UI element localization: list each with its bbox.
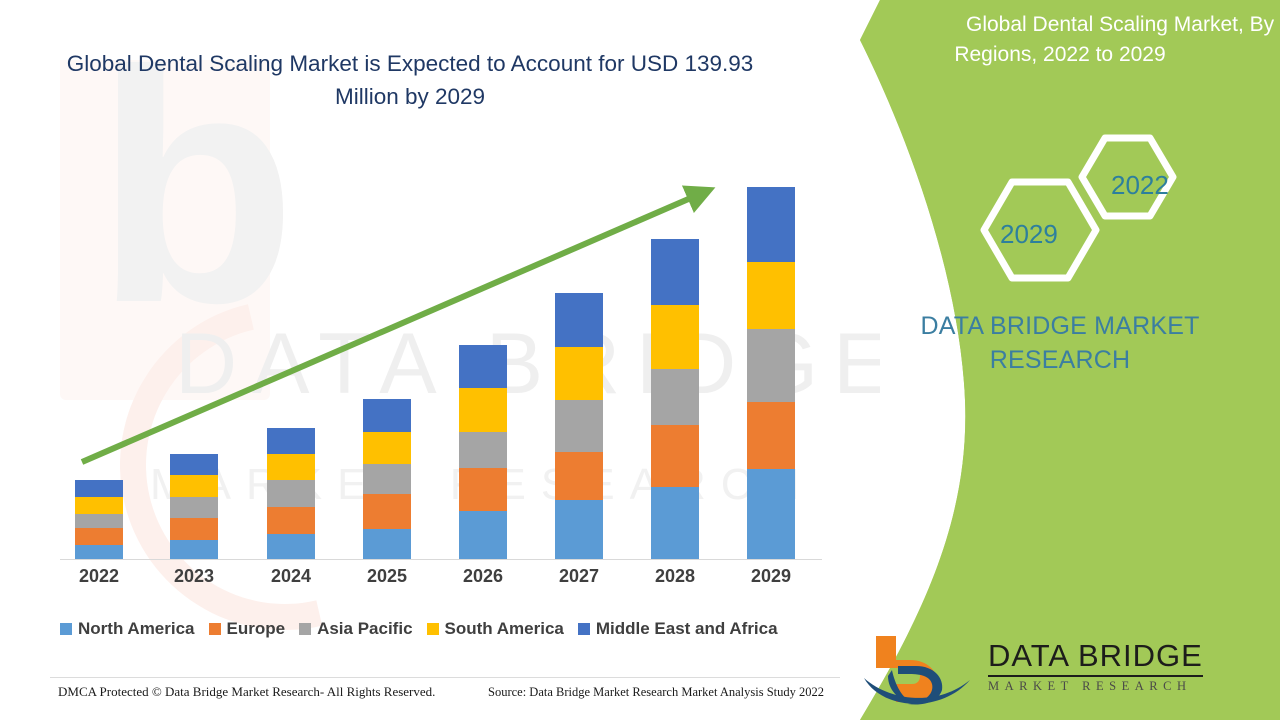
bar-segment-2028-south-america	[651, 305, 699, 369]
bar-segment-2023-europe	[170, 518, 218, 540]
bar-segment-2022-north-america	[75, 545, 123, 559]
footer-divider	[50, 677, 840, 678]
bar-segment-2029-middle-east-and-africa	[747, 187, 795, 262]
x-axis-label-2026: 2026	[438, 566, 528, 587]
x-axis-labels: 20222023202420252026202720282029	[60, 566, 822, 596]
hexagon-2022-label: 2022	[1111, 170, 1169, 201]
infographic-canvas: b DATA BRIDGE MARKET RESEARCH Global Den…	[0, 0, 1280, 720]
x-axis-label-2029: 2029	[726, 566, 816, 587]
bar-segment-2029-south-america	[747, 262, 795, 329]
bar-2028	[651, 239, 699, 559]
chart-title: Global Dental Scaling Market is Expected…	[60, 48, 760, 113]
chart-legend: North AmericaEuropeAsia PacificSouth Ame…	[60, 616, 830, 642]
bar-2026	[459, 345, 507, 560]
bar-segment-2029-asia-pacific	[747, 329, 795, 402]
bar-segment-2024-europe	[267, 507, 315, 534]
bar-segment-2022-asia-pacific	[75, 514, 123, 528]
bar-2024	[267, 428, 315, 559]
x-axis-label-2028: 2028	[630, 566, 720, 587]
brand-panel: Global Dental Scaling Market, By Regions…	[840, 0, 1280, 720]
hexagon-group	[840, 130, 1280, 300]
bar-segment-2024-north-america	[267, 534, 315, 559]
bar-segment-2026-north-america	[459, 511, 507, 559]
x-axis-label-2022: 2022	[54, 566, 144, 587]
x-axis-line	[60, 559, 822, 560]
legend-item-north-america[interactable]: North America	[60, 619, 195, 639]
bar-2027	[555, 293, 603, 559]
bar-segment-2024-south-america	[267, 454, 315, 480]
bar-segment-2026-asia-pacific	[459, 432, 507, 468]
hexagon-2029-label: 2029	[1000, 219, 1058, 250]
bar-2029	[747, 187, 795, 559]
bar-2023	[170, 454, 218, 559]
bar-segment-2025-asia-pacific	[363, 464, 411, 494]
legend-label: Asia Pacific	[317, 619, 412, 639]
logo-main-text: DATA BRIDGE	[988, 638, 1203, 677]
bar-segment-2025-south-america	[363, 432, 411, 464]
bar-group	[60, 150, 822, 559]
x-axis-label-2024: 2024	[246, 566, 336, 587]
bar-segment-2024-middle-east-and-africa	[267, 428, 315, 454]
bar-segment-2023-south-america	[170, 475, 218, 497]
bar-segment-2026-south-america	[459, 388, 507, 432]
legend-label: Middle East and Africa	[596, 619, 778, 639]
bar-segment-2027-europe	[555, 452, 603, 500]
panel-title-line2: Regions, 2022 to 2029	[846, 40, 1274, 70]
bar-segment-2022-south-america	[75, 497, 123, 514]
legend-swatch-icon	[427, 623, 439, 635]
chart-plot-area	[60, 150, 822, 560]
legend-item-south-america[interactable]: South America	[427, 619, 564, 639]
company-logo: DATA BRIDGE MARKET RESEARCH	[858, 630, 1278, 708]
legend-swatch-icon	[299, 623, 311, 635]
bar-segment-2025-north-america	[363, 529, 411, 559]
legend-item-asia-pacific[interactable]: Asia Pacific	[299, 619, 412, 639]
bar-segment-2022-europe	[75, 528, 123, 545]
panel-brand-line1: DATA BRIDGE MARKET	[840, 310, 1280, 344]
panel-title-line1: Global Dental Scaling Market, By	[966, 10, 1274, 40]
bar-segment-2027-north-america	[555, 500, 603, 559]
legend-swatch-icon	[60, 623, 72, 635]
bar-segment-2027-middle-east-and-africa	[555, 293, 603, 347]
bar-segment-2022-middle-east-and-africa	[75, 480, 123, 497]
logo-mark-icon	[858, 630, 976, 706]
bar-segment-2029-europe	[747, 402, 795, 469]
legend-label: Europe	[227, 619, 286, 639]
legend-item-europe[interactable]: Europe	[209, 619, 286, 639]
x-axis-label-2023: 2023	[149, 566, 239, 587]
footer-copyright: DMCA Protected © Data Bridge Market Rese…	[58, 684, 435, 700]
bar-segment-2023-asia-pacific	[170, 497, 218, 518]
bar-2025	[363, 399, 411, 559]
panel-brand-line2: RESEARCH	[840, 344, 1280, 378]
bar-segment-2028-middle-east-and-africa	[651, 239, 699, 305]
legend-swatch-icon	[209, 623, 221, 635]
panel-brand-text: DATA BRIDGE MARKET RESEARCH	[840, 310, 1280, 378]
bar-segment-2028-north-america	[651, 487, 699, 559]
legend-label: South America	[445, 619, 564, 639]
bar-segment-2029-north-america	[747, 469, 795, 559]
bar-segment-2026-middle-east-and-africa	[459, 345, 507, 389]
bar-segment-2023-north-america	[170, 540, 218, 559]
bar-segment-2027-south-america	[555, 347, 603, 400]
logo-sub-text: MARKET RESEARCH	[988, 679, 1203, 694]
bar-segment-2028-asia-pacific	[651, 369, 699, 425]
panel-title: Global Dental Scaling Market, By Regions…	[840, 10, 1280, 71]
logo-wordmark: DATA BRIDGE MARKET RESEARCH	[988, 638, 1203, 694]
legend-item-middle-east-and-africa[interactable]: Middle East and Africa	[578, 619, 778, 639]
footer-source: Source: Data Bridge Market Research Mark…	[488, 685, 824, 700]
x-axis-label-2027: 2027	[534, 566, 624, 587]
bar-segment-2026-europe	[459, 468, 507, 511]
bar-2022	[75, 480, 123, 559]
bar-segment-2023-middle-east-and-africa	[170, 454, 218, 475]
bar-segment-2028-europe	[651, 425, 699, 487]
legend-label: North America	[78, 619, 195, 639]
bar-segment-2025-middle-east-and-africa	[363, 399, 411, 432]
legend-swatch-icon	[578, 623, 590, 635]
bar-segment-2024-asia-pacific	[267, 480, 315, 507]
bar-segment-2027-asia-pacific	[555, 400, 603, 452]
bar-segment-2025-europe	[363, 494, 411, 529]
x-axis-label-2025: 2025	[342, 566, 432, 587]
